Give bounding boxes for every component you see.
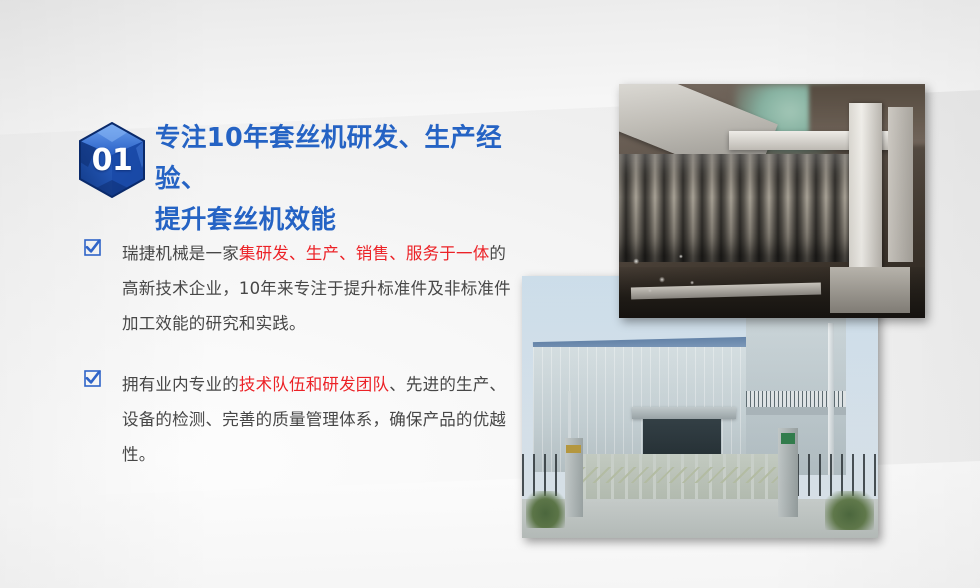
badge-number: 01: [78, 122, 146, 198]
exit-sign: [781, 433, 795, 444]
list-item-text: 拥有业内专业的技术队伍和研发团队、先进的生产、设备的检测、完善的质量管理体系，确…: [122, 367, 514, 472]
hexagon-badge-icon: 01: [78, 122, 146, 198]
list-item: 瑞捷机械是一家集研发、生产、销售、服务于一体的高新技术企业，10年来专注于提升标…: [84, 236, 514, 341]
caliper-jaw: [888, 107, 912, 261]
list-item: 拥有业内专业的技术队伍和研发团队、先进的生产、设备的检测、完善的质量管理体系，确…: [84, 367, 514, 472]
threaded-rod-caliper-photo: [619, 84, 925, 318]
checkbox-checked-icon: [84, 239, 101, 256]
list-item-text-part: 瑞捷机械是一家: [122, 244, 239, 263]
promo-banner: 01 专注10年套丝机研发、生产经验、 提升套丝机效能 瑞捷机械是一家集研发、生…: [0, 0, 980, 588]
downpipe: [828, 323, 834, 475]
gate-pillar-right: [778, 428, 798, 517]
checkbox-checked-icon: [84, 370, 101, 387]
gate-pillar-left: [565, 438, 583, 517]
page-title: 专注10年套丝机研发、生产经验、 提升套丝机效能: [78, 118, 548, 241]
company-plaque: [566, 445, 580, 454]
bush-right: [825, 491, 875, 530]
list-item-text-highlight: 集研发、生产、销售、服务于一体: [239, 244, 490, 263]
list-item-text-highlight: 技术队伍和研发团队: [239, 375, 389, 394]
list-item-text: 瑞捷机械是一家集研发、生产、销售、服务于一体的高新技术企业，10年来专注于提升标…: [122, 236, 514, 341]
feature-list: 瑞捷机械是一家集研发、生产、销售、服务于一体的高新技术企业，10年来专注于提升标…: [84, 236, 514, 498]
metal-chips: [619, 243, 705, 304]
door-canopy: [632, 407, 735, 419]
threaded-rod-photo-content: [619, 84, 925, 318]
list-item-text-part: 拥有业内专业的: [122, 375, 239, 394]
bush-left: [526, 491, 565, 528]
headline-block: 01 专注10年套丝机研发、生产经验、 提升套丝机效能: [78, 118, 548, 241]
metal-block: [830, 267, 910, 314]
gate-lattice: [583, 467, 782, 483]
